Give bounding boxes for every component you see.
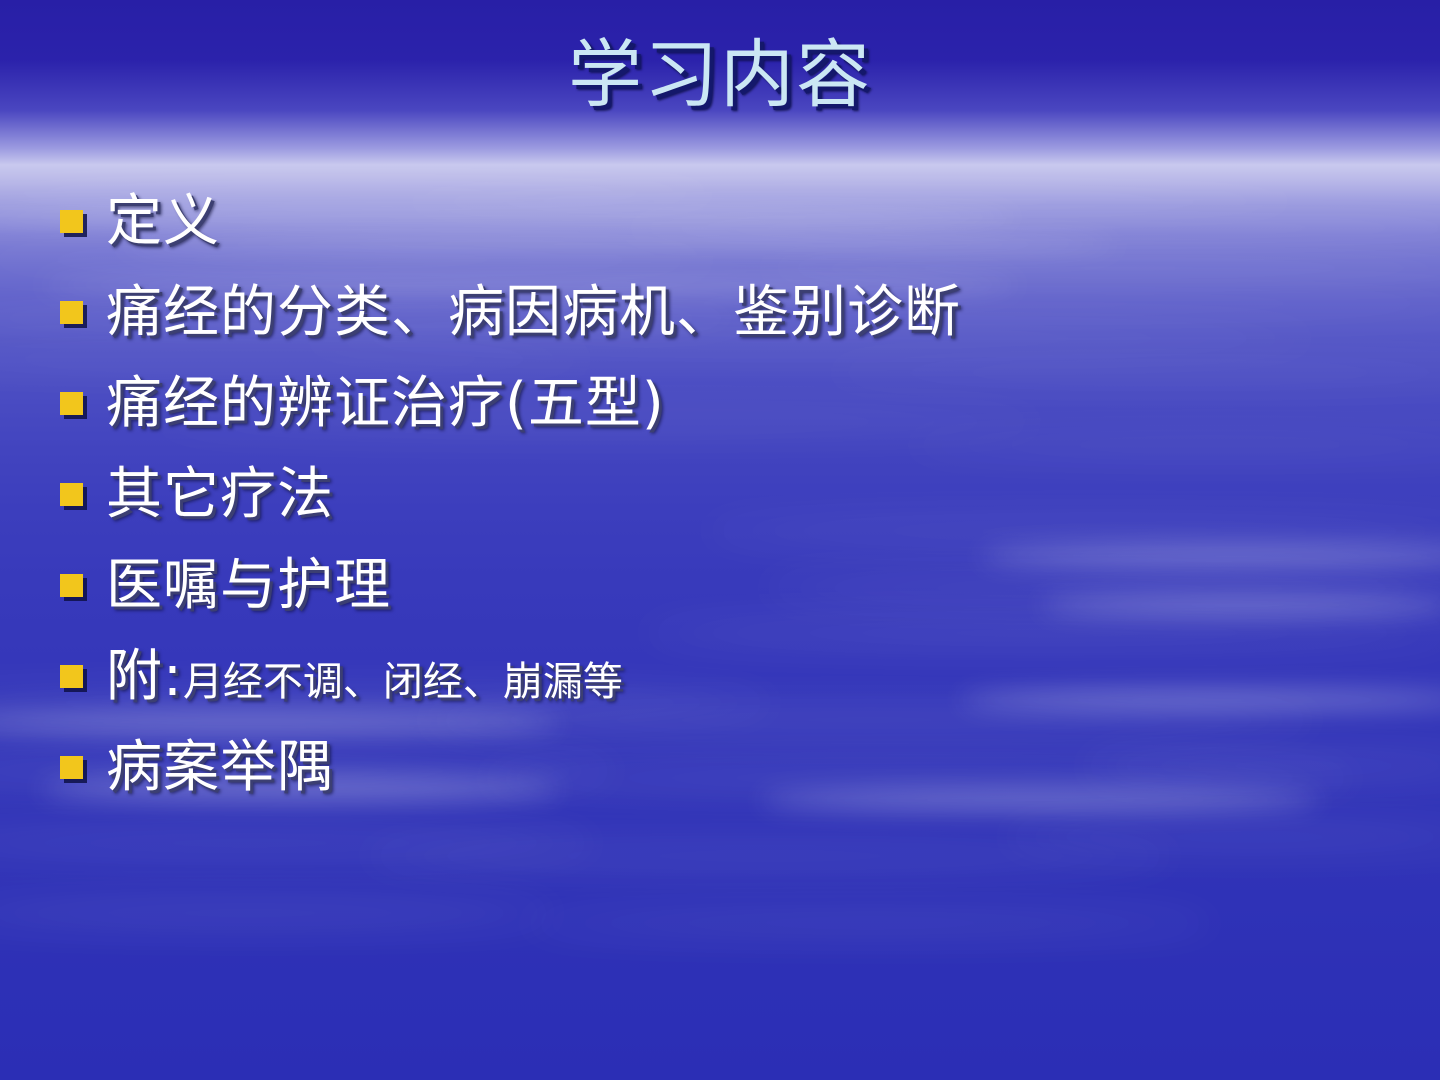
presentation-slide: 学习内容 定义 痛经的分类、病因病机、鉴别诊断 痛经的辨证治疗(五型) 其它疗法… xyxy=(0,0,1440,1080)
list-item[interactable]: 痛经的分类、病因病机、鉴别诊断 xyxy=(60,267,1420,358)
bullet-list: 定义 痛经的分类、病因病机、鉴别诊断 痛经的辨证治疗(五型) 其它疗法 医嘱与护… xyxy=(60,176,1420,813)
bullet-square-icon xyxy=(60,301,83,324)
bullet-square-icon xyxy=(60,756,83,779)
bullet-square-icon xyxy=(60,574,83,597)
slide-title: 学习内容 xyxy=(0,38,1440,112)
list-item[interactable]: 定义 xyxy=(60,176,1420,267)
list-item[interactable]: 病案举隅 xyxy=(60,722,1420,813)
list-item-label: 附:月经不调、闭经、崩漏等 xyxy=(106,649,1420,705)
list-item-label-detail: 月经不调、闭经、崩漏等 xyxy=(183,659,623,705)
list-item-label: 病案举隅 xyxy=(106,740,1420,796)
bullet-square-icon xyxy=(60,392,83,415)
list-item[interactable]: 附:月经不调、闭经、崩漏等 xyxy=(60,631,1420,722)
list-item[interactable]: 其它疗法 xyxy=(60,449,1420,540)
list-item-label: 痛经的辨证治疗(五型) xyxy=(106,376,1420,432)
bullet-square-icon xyxy=(60,210,83,233)
list-item-label: 其它疗法 xyxy=(106,467,1420,523)
list-item[interactable]: 痛经的辨证治疗(五型) xyxy=(60,358,1420,449)
list-item-label: 医嘱与护理 xyxy=(106,558,1420,614)
list-item-label-prefix: 附: xyxy=(106,644,183,709)
bullet-square-icon xyxy=(60,665,83,688)
list-item[interactable]: 医嘱与护理 xyxy=(60,540,1420,631)
list-item-label: 痛经的分类、病因病机、鉴别诊断 xyxy=(106,285,1420,341)
list-item-label: 定义 xyxy=(106,194,1420,250)
bullet-square-icon xyxy=(60,483,83,506)
